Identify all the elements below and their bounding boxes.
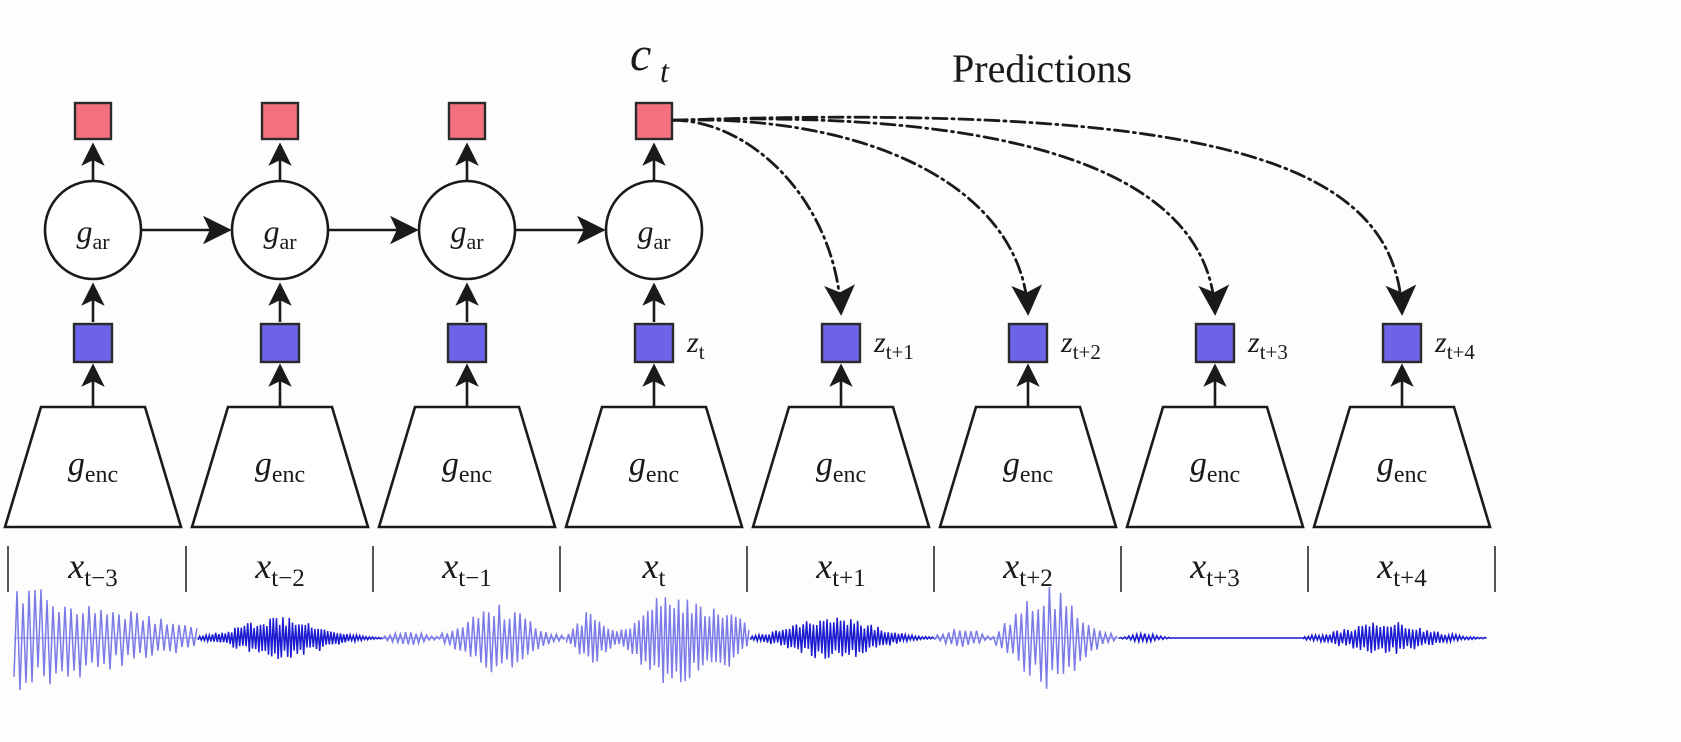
waveform-segment [198,617,382,659]
cpc-architecture-figure: gencgargencgargencgargencztgargenczt+1ge… [0,0,1681,742]
time-step-label: xt−1 [441,546,492,592]
waveform-segment [566,597,749,683]
prediction-arc [673,117,1402,312]
context-square [636,103,672,139]
latent-square [635,324,673,362]
waveform-segment [1119,634,1303,642]
latent-label: zt+4 [1434,326,1475,364]
latent-square [74,324,112,362]
time-step-label: xt+2 [1002,546,1053,592]
latent-square [448,324,486,362]
latent-square [822,324,860,362]
time-step-label: xt+3 [1189,546,1240,592]
waveform-segment [14,589,197,690]
time-step-label: xt−2 [254,546,305,592]
diagram-canvas: gencgargencgargencgargencztgargenczt+1ge… [0,0,1681,742]
latent-square [1383,324,1421,362]
time-step-label: xt−3 [67,546,118,592]
context-square [449,103,485,139]
latent-square [1196,324,1234,362]
time-step-label: xt+4 [1376,546,1427,592]
time-step-label: xt+1 [815,546,866,592]
latent-square [1009,324,1047,362]
latent-label: zt+1 [873,326,914,364]
prediction-arc [673,120,1028,312]
latent-label: zt [686,326,705,364]
time-step-label: xt [642,546,666,592]
latent-square [261,324,299,362]
latent-label: zt+2 [1060,326,1101,364]
context-square [262,103,298,139]
context-square [75,103,111,139]
latent-label: zt+3 [1247,326,1288,364]
